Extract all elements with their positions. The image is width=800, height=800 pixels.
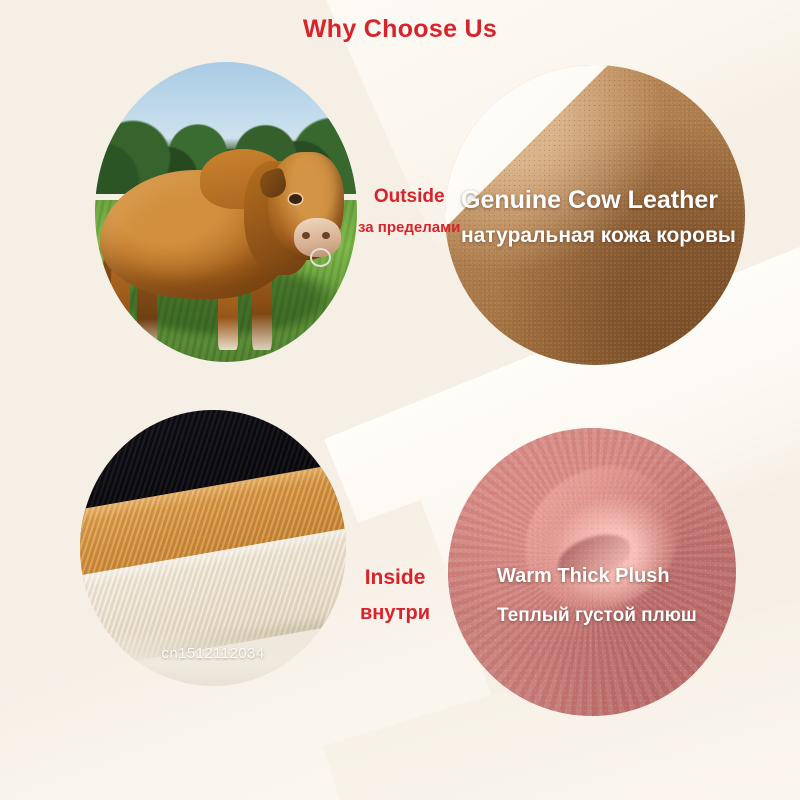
inside-label: Inside внутри [360,563,430,628]
bull-in-pasture-photo [95,62,357,362]
watermark-text: cn1512112034 [162,645,265,662]
warm-thick-plush-label: Warm Thick Plush Теплый густой плюш [497,562,697,630]
bull-photo-canvas [95,62,357,362]
leather-label-ru: натуральная кожа коровы [461,221,736,251]
genuine-cow-leather-label: Genuine Cow Leather натуральная кожа кор… [461,182,736,252]
inside-label-en: Inside [360,563,430,593]
why-choose-us-poster: Why Choose Us [0,0,800,800]
leather-label-en: Genuine Cow Leather [461,182,736,218]
outside-label-ru: за пределами [358,217,460,239]
outside-label-en: Outside [358,183,460,211]
page-title: Why Choose Us [0,16,800,44]
outside-label: Outside за пределами [358,183,460,238]
plush-label-ru: Теплый густой плюш [497,602,697,630]
bull-nose-ring [310,248,331,267]
layered-fur-lining-photo: cn1512112034 [80,410,346,686]
inside-label-ru: внутри [360,599,430,628]
plush-label-en: Warm Thick Plush [497,562,697,591]
